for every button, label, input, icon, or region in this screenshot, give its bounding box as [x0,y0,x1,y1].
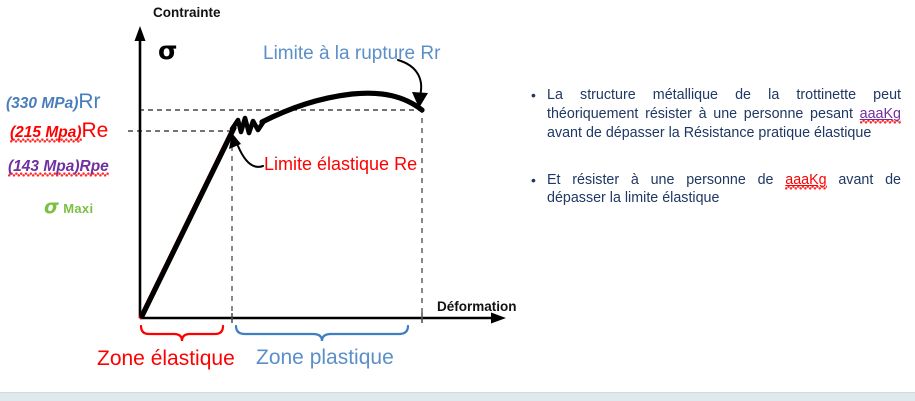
marker-rr-symbol: Rr [78,90,100,113]
brace-elastic-zone [141,326,223,341]
sigma-maxi-symbol: σ [44,196,59,218]
y-axis-caption: Contrainte [153,6,221,20]
y-axis-arrowhead [135,26,146,41]
zone-label-elastique: Zone élastique [97,348,235,369]
marker-rpe-symbol: Rpe [80,158,109,177]
sigma-maxi-label: σ Maxi [44,198,93,217]
callout-limite-elastique: Limite élastique Re [264,155,417,173]
marker-rr-value: (330 MPa) [6,95,78,112]
elastic-callout-arrow-line [238,146,263,167]
bullet-highlight: aaaKg [860,106,901,124]
footer-band [0,393,915,401]
curve-plastic-segment [262,93,422,122]
curve-yield-wiggle [232,118,264,133]
callout-limite-rupture: Limite à la rupture Rr [263,44,440,63]
marker-label-re: (215 Mpa)Re [10,120,108,141]
marker-re-symbol: Re [82,119,109,142]
marker-label-rr: (330 MPa)Rr [6,91,101,112]
rupture-callout-arrow-line [398,60,421,96]
x-axis-arrowhead [491,313,506,324]
slide-canvas: Contrainte σ Déformation (330 MPa)Rr (21… [0,0,915,401]
bullet-text-before: Et résister à une personne de [547,172,785,188]
bullet-item: •La structure métallique de la trottinet… [529,86,901,143]
y-axis-symbol-sigma: σ [158,38,177,63]
marker-re-value: (215 Mpa) [10,124,82,143]
x-axis-caption: Déformation [437,300,517,314]
sigma-maxi-text: Maxi [63,201,93,216]
bullet-text-after: avant de dépasser la Résistance pratique… [547,125,871,141]
brace-plastic-zone [236,326,408,341]
curve-elastic-segment [142,128,234,316]
marker-label-rpe: (143 Mpa)Rpe [8,159,109,175]
bullet-dot: • [531,171,536,189]
bullet-text-before: La structure métallique de la trottinett… [547,87,901,122]
bullet-dot: • [531,86,536,104]
zone-label-plastique: Zone plastique [256,347,394,368]
bullet-highlight: aaaKg [785,172,826,190]
explanation-text-panel: •La structure métallique de la trottinet… [529,86,901,230]
bullet-item: •Et résister à une personne de aaaKg ava… [529,171,901,209]
marker-rpe-value: (143 Mpa) [8,158,80,177]
